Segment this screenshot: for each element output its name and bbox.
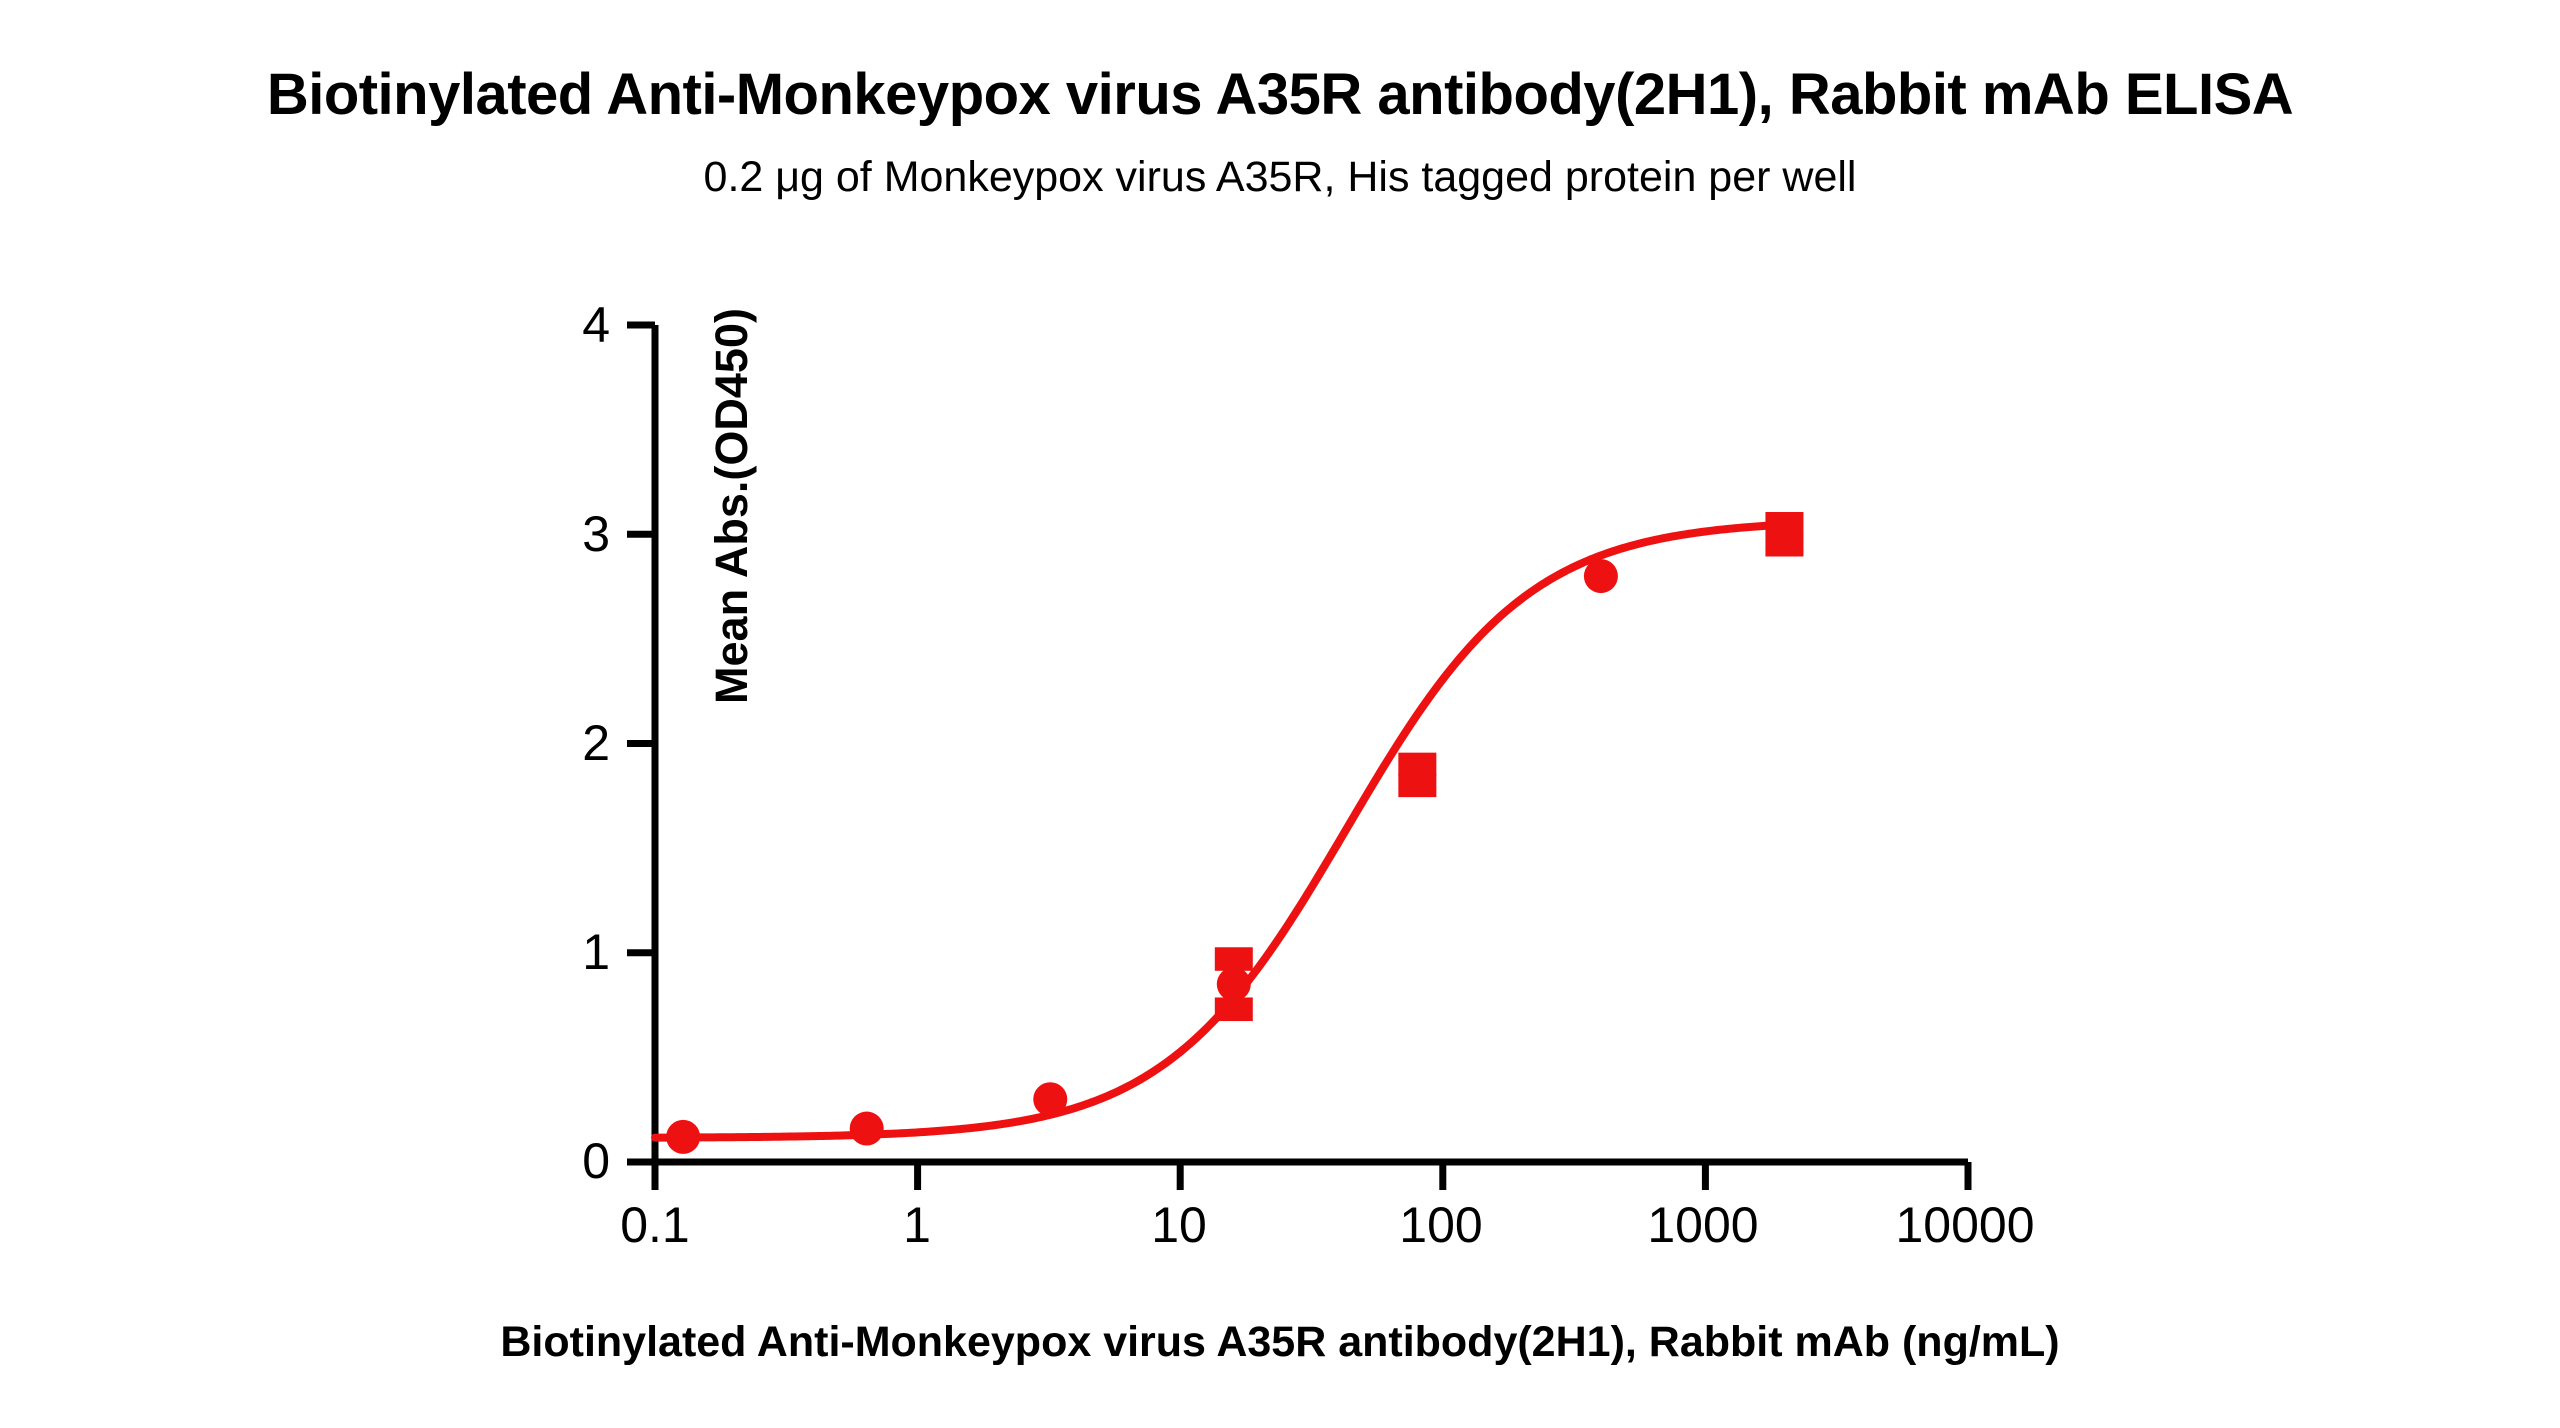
y-tick-marks: [627, 325, 655, 1162]
data-point: [666, 1120, 700, 1154]
plot-canvas: [0, 0, 2560, 1428]
data-point: [1033, 1082, 1067, 1116]
data-point: [1217, 967, 1251, 1001]
data-point: [1400, 758, 1434, 792]
x-tick-marks: [655, 1162, 1968, 1190]
elisa-chart-figure: Biotinylated Anti-Monkeypox virus A35R a…: [0, 0, 2560, 1428]
error-bars: [1215, 512, 1804, 1021]
data-point: [850, 1112, 884, 1146]
data-point-markers: [666, 517, 1801, 1154]
fit-curve: [655, 524, 1787, 1137]
data-point: [1767, 517, 1801, 551]
data-point: [1584, 559, 1618, 593]
